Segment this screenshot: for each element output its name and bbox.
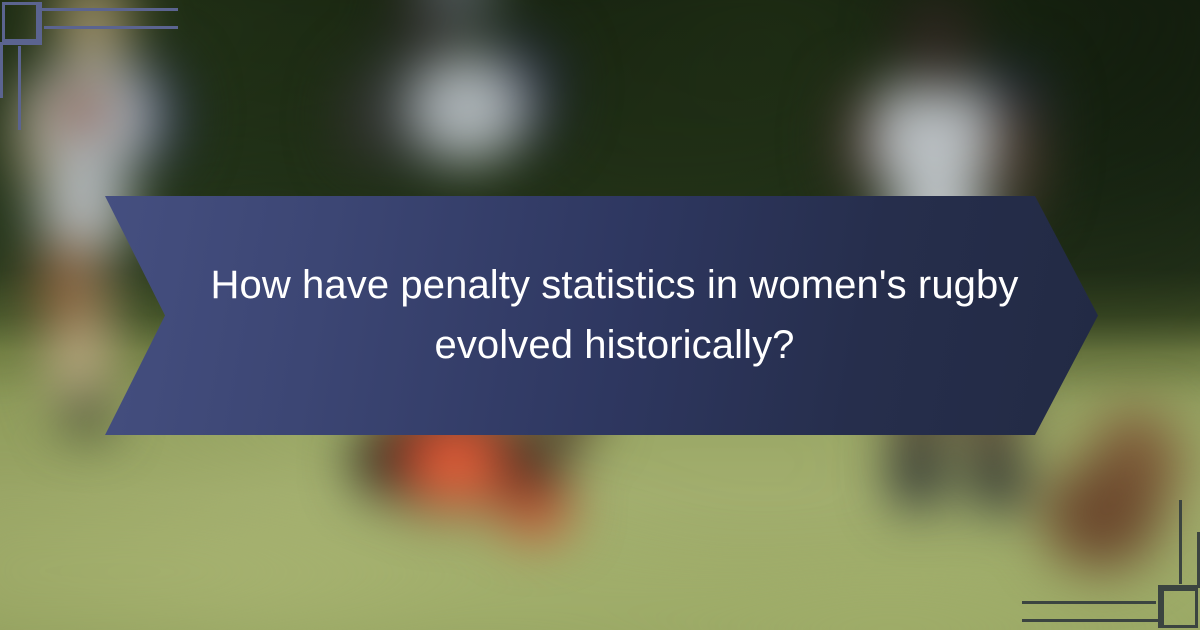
headline-line-1: How have penalty statistics in women's r… (205, 256, 1025, 315)
headline-ribbon: How have penalty statistics in women's r… (105, 196, 1098, 435)
corner-bracket-bottom-right (1104, 534, 1200, 630)
corner-horizontal-bar-secondary (1022, 601, 1156, 604)
headline: How have penalty statistics in women's r… (205, 256, 1025, 374)
corner-bracket-top-left (0, 0, 96, 96)
corner-horizontal-bar-secondary (44, 26, 178, 29)
corner-square-icon (1158, 588, 1198, 628)
corner-vertical-bar (0, 42, 3, 98)
corner-horizontal-bar (1022, 619, 1158, 622)
corner-elbow-joint (0, 42, 42, 45)
headline-line-2: evolved historically? (205, 316, 1025, 375)
corner-vertical-bar-secondary (1179, 500, 1182, 584)
corner-vertical-bar-secondary (18, 46, 21, 130)
hero-card: How have penalty statistics in women's r… (0, 0, 1200, 630)
corner-horizontal-bar (42, 8, 178, 11)
corner-square-stem (36, 2, 39, 44)
corner-elbow-joint (1158, 585, 1200, 588)
corner-square-stem (1161, 586, 1164, 628)
